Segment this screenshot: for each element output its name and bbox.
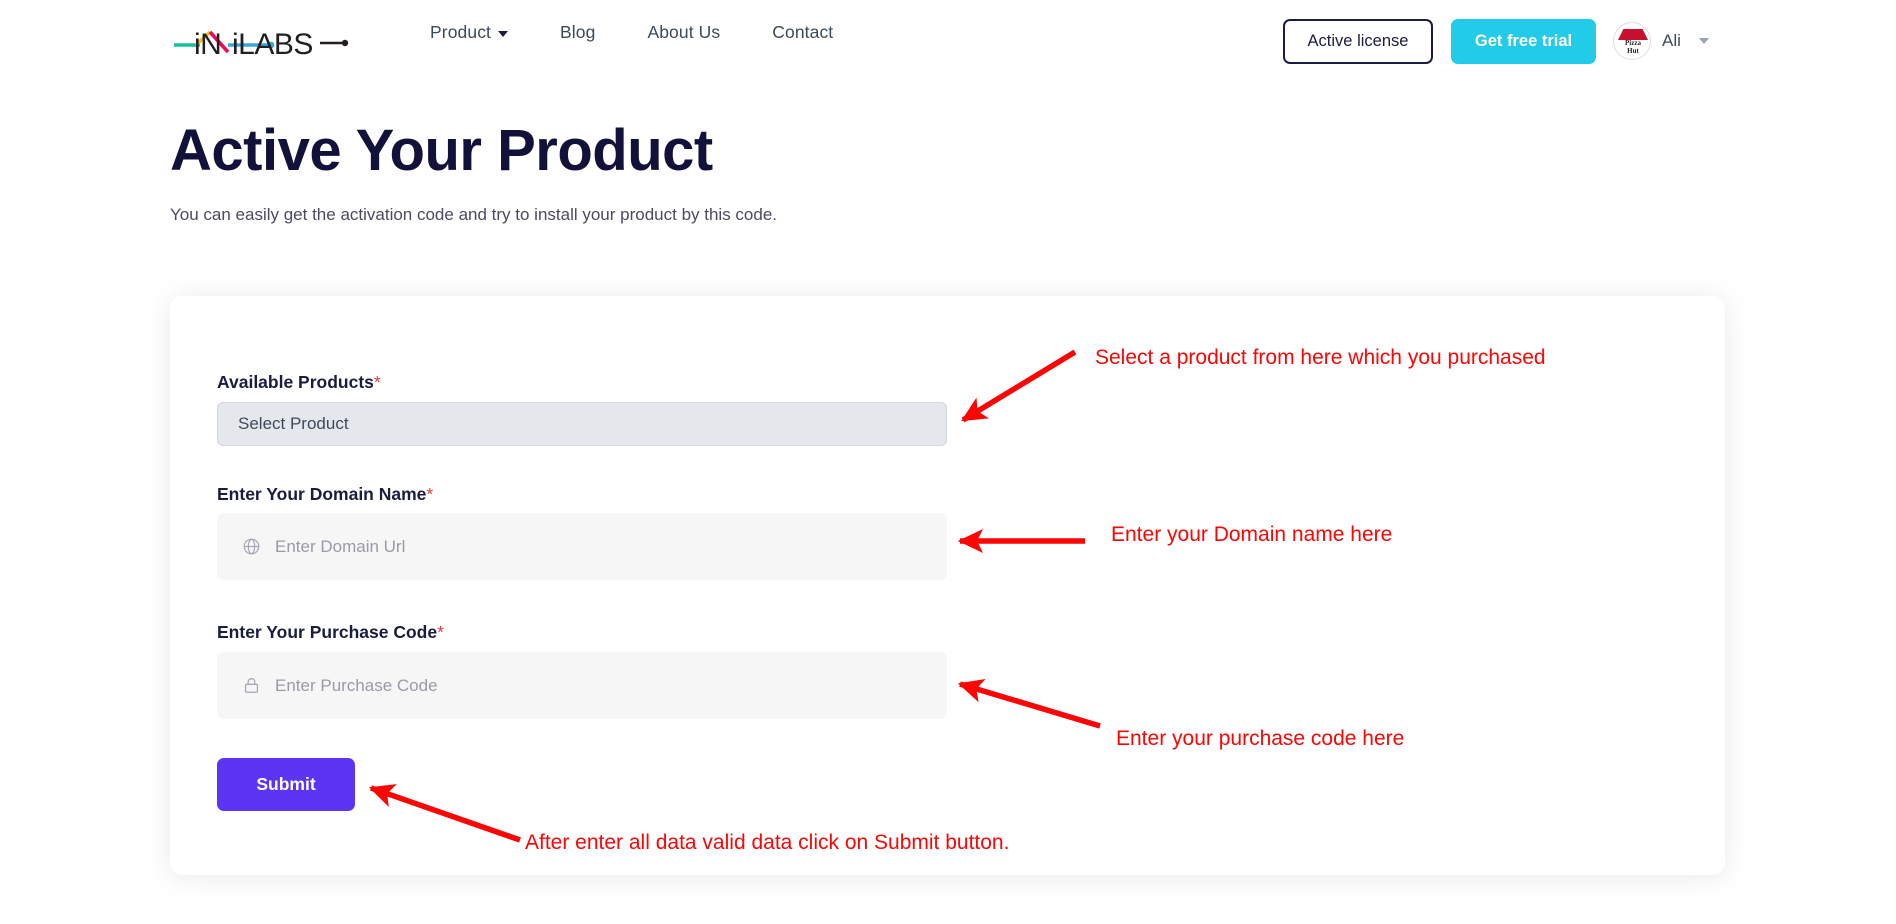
product-select-value: Select Product — [238, 414, 349, 434]
avatar-brand-label: PizzaHut — [1614, 40, 1651, 55]
nav-label-product: Product — [430, 22, 491, 43]
svg-text:iLABS: iLABS — [232, 28, 313, 61]
annotation-product: Select a product from here which you pur… — [1095, 346, 1546, 370]
globe-icon — [242, 537, 261, 556]
purchase-code-label: Enter Your Purchase Code* — [217, 622, 444, 643]
avatar: PizzaHut — [1613, 22, 1651, 60]
product-select[interactable]: Select Product — [217, 402, 947, 446]
nav-item-contact[interactable]: Contact — [772, 22, 833, 43]
activation-page: iN iLABS Product Blog About Us Contact A… — [0, 0, 1896, 924]
activation-form-card — [170, 296, 1725, 875]
nav-item-product[interactable]: Product — [430, 22, 508, 43]
chevron-down-icon[interactable] — [1699, 38, 1709, 44]
annotation-submit: After enter all data valid data click on… — [525, 831, 1009, 855]
get-free-trial-button[interactable]: Get free trial — [1451, 19, 1596, 64]
annotation-domain: Enter your Domain name here — [1111, 523, 1392, 547]
annotation-purchase-code: Enter your purchase code here — [1116, 727, 1404, 751]
site-header: iN iLABS Product Blog About Us Contact A… — [0, 0, 1896, 82]
nav-item-about-us[interactable]: About Us — [647, 22, 720, 43]
nav-item-blog[interactable]: Blog — [560, 22, 595, 43]
submit-button[interactable]: Submit — [217, 758, 355, 811]
logo-mark: iN iLABS — [172, 18, 352, 64]
purchase-code-placeholder: Enter Purchase Code — [275, 676, 438, 696]
purchase-code-input[interactable]: Enter Purchase Code — [217, 652, 947, 719]
domain-input[interactable]: Enter Domain Url — [217, 513, 947, 580]
page-title: Active Your Product — [170, 118, 713, 184]
domain-input-placeholder: Enter Domain Url — [275, 537, 405, 557]
user-name-label: Ali — [1662, 31, 1681, 51]
available-products-label: Available Products* — [217, 372, 381, 393]
domain-name-label: Enter Your Domain Name* — [217, 484, 433, 505]
page-subtitle: You can easily get the activation code a… — [170, 205, 777, 225]
inilabs-logo[interactable]: iN iLABS — [172, 18, 352, 64]
chevron-down-icon — [498, 31, 508, 37]
active-license-button[interactable]: Active license — [1283, 19, 1433, 64]
lock-icon — [242, 676, 261, 695]
svg-text:iN: iN — [194, 28, 221, 61]
user-menu[interactable]: PizzaHut Ali — [1613, 22, 1709, 60]
main-nav: Product Blog About Us Contact — [430, 22, 833, 43]
